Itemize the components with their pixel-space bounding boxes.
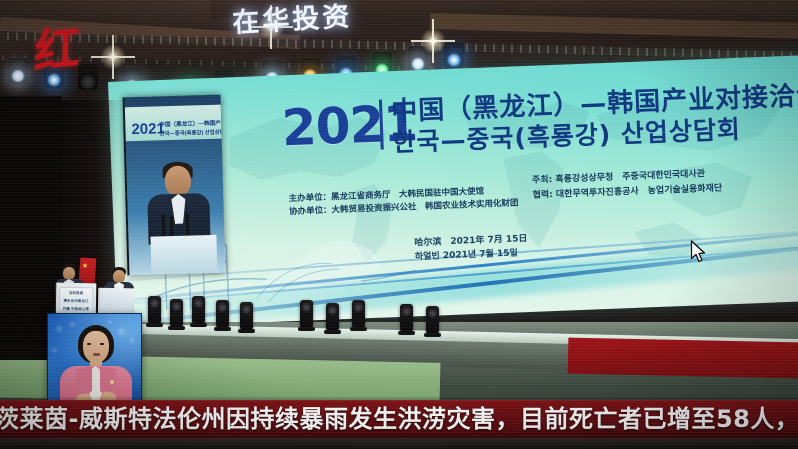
stage-loudspeaker (240, 302, 253, 330)
broadcast-frame: 红 在华投资 (0, 0, 798, 449)
speaker-base (350, 327, 367, 331)
bokeh-light (56, 326, 62, 332)
stage-loudspeaker (192, 296, 205, 324)
stage-spotlight (8, 58, 28, 84)
stage-spotlight (444, 42, 464, 68)
bokeh-light (130, 338, 135, 343)
event-date: 哈尔滨 2021年 7月 15日 하얼빈 2021년 7월 15일 (414, 232, 528, 264)
bokeh-light (108, 320, 112, 324)
interpreter-face (83, 331, 109, 363)
speaker-base (298, 327, 315, 331)
flag-star: ★ (82, 263, 89, 270)
stage-loudspeaker (426, 306, 439, 334)
side-display-screen: 2021 中国（黑龙江）—韩国产业对接洽谈会 한국—중국(흑룡강) 산업상담회 (123, 95, 226, 276)
bokeh-light (70, 322, 75, 327)
stage-loudspeaker (300, 300, 313, 328)
mouse-cursor (690, 240, 708, 264)
bokeh-light (118, 328, 125, 335)
podium-sign-line: 共赢 中韩商心得 (60, 304, 92, 313)
interpreter-eye (100, 343, 104, 345)
speaker-head (164, 166, 191, 197)
stage-loudspeaker (148, 296, 161, 324)
news-ticker-bar: 法尔茨莱茵-威斯特法伦州因持续暴雨发生洪涝灾害，目前死亡者已增至58人， (0, 400, 798, 438)
podium-sign: 互利投资 携手合作黑龙江 共赢 中韩商心得 (59, 287, 93, 312)
speaker-base (168, 326, 185, 330)
speaker-base (190, 323, 207, 327)
speaker-podium (150, 235, 217, 275)
lens-flare (420, 28, 446, 54)
stage-loudspeaker (352, 300, 365, 328)
side-screen-banner: 2021 中国（黑龙江）—韩国产业对接洽谈会 한국—중국(흑룡강) 산업상담회 (125, 105, 222, 142)
speaker-base (214, 327, 231, 331)
speaker-base (324, 330, 341, 334)
stage-left-wing (0, 96, 62, 346)
ticker-bottom-band (0, 438, 798, 449)
interpreter-mouth (93, 353, 100, 356)
stage-loudspeaker (170, 299, 183, 327)
lens-flare (100, 44, 126, 70)
interpreter-eye (87, 343, 91, 345)
stage-loudspeaker (216, 300, 229, 328)
interpreter-badge (110, 380, 114, 384)
stage-loudspeaker (326, 303, 339, 331)
side-screen-title-korean: 한국—중국(흑룡강) 산업상담회 (159, 127, 225, 137)
speaker-base (398, 331, 415, 335)
bokeh-light (52, 348, 57, 353)
speaker-base (146, 323, 163, 327)
side-screen-title-chinese: 中国（黑龙江）—韩国产业对接洽谈会 (159, 118, 225, 129)
stage-front-red-banner (568, 338, 798, 379)
speaker-base (424, 333, 441, 337)
channel-logo: 红 (33, 19, 95, 82)
stage-loudspeaker (400, 304, 413, 332)
speaker-base (238, 329, 255, 333)
news-ticker-text: 法尔茨莱茵-威斯特法伦州因持续暴雨发生洪涝灾害，目前死亡者已增至58人， (0, 403, 798, 435)
podium-sign-line: 携手合作黑龙江 (60, 296, 92, 305)
